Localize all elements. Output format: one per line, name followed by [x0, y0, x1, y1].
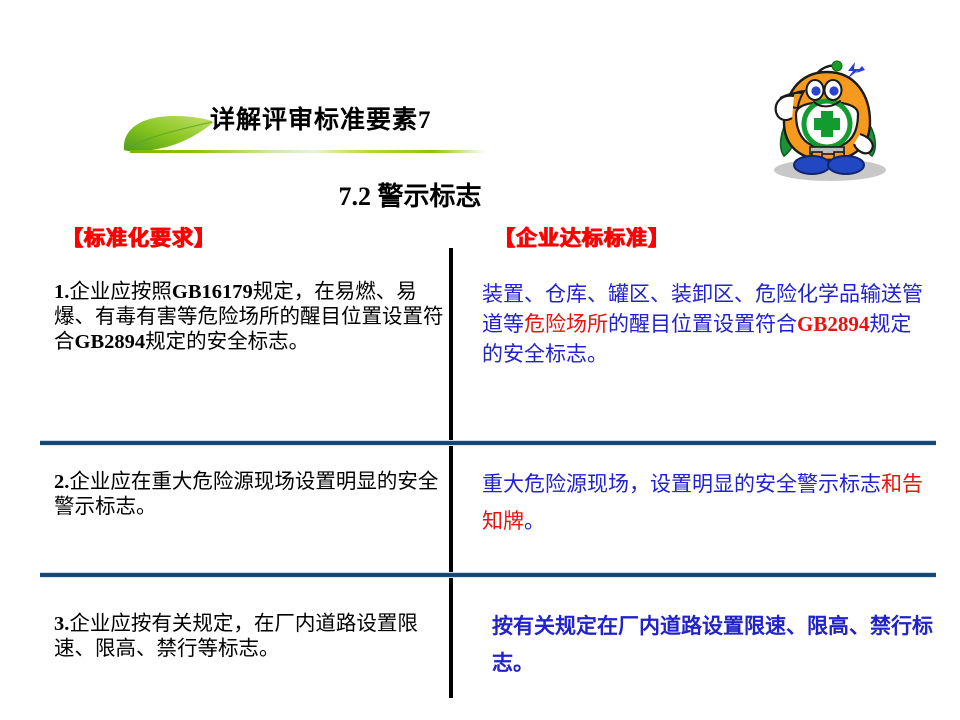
- safety-helmet-mascot-icon: [752, 48, 932, 188]
- row-1-left-seg-c: 规定的安全标志。: [145, 331, 309, 353]
- page-title: 详解评审标准要素7: [210, 100, 432, 136]
- row-2-right-seg-a: 重大危险源现场，设置明显的安全警示标志: [482, 472, 881, 496]
- row-2-left-seg-a: 企业应在重大危险源现场设置明显的安全警示标志。: [54, 471, 438, 518]
- table-row-1-right-cell: 装置、仓库、罐区、装卸区、危险化学品输送管道等危险场所的醒目位置设置符合GB28…: [482, 280, 930, 369]
- row-1-right-highlight-b: GB2894: [797, 312, 869, 336]
- column-header-enterprise-standard: 【企业达标标准】: [494, 222, 670, 252]
- row-1-right-seg-b: 的醒目位置设置符合: [608, 312, 797, 336]
- table-row-2-left-cell: 2.企业应在重大危险源现场设置明显的安全警示标志。: [54, 470, 444, 520]
- row-2-number: 2.: [54, 471, 69, 493]
- row-divider-1: [40, 440, 936, 446]
- row-divider-2: [40, 572, 936, 578]
- slide-title-block: 详解评审标准要素7: [118, 100, 738, 164]
- row-1-left-code-a: GB16179: [172, 281, 253, 303]
- section-subtitle: 7.2 警示标志: [0, 176, 820, 213]
- row-2-right-seg-b: 。: [524, 509, 545, 533]
- column-header-standard-requirement: 【标准化要求】: [62, 222, 216, 252]
- table-row-1-left-cell: 1.企业应按照GB16179规定，在易燃、易爆、有毒有害等危险场所的醒目位置设置…: [54, 280, 444, 355]
- row-3-right-seg-a: 按有关规定在厂内道路设置限速、限高、禁行标志。: [492, 614, 933, 675]
- row-3-left-seg-a: 企业应按有关规定，在厂内道路设置限速、限高、禁行等标志。: [54, 613, 418, 660]
- table-row-2-right-cell: 重大危险源现场，设置明显的安全警示标志和告知牌。: [482, 466, 930, 541]
- row-1-right-highlight-a: 危险场所: [524, 312, 608, 336]
- row-1-left-code-b: GB2894: [75, 331, 146, 353]
- slide-canvas: 详解评审标准要素7 7.2 警示标志 【标准化要求】 【企业达标标准】 1.企业…: [0, 0, 960, 720]
- row-3-number: 3.: [54, 613, 69, 635]
- table-row-3-left-cell: 3.企业应按有关规定，在厂内道路设置限速、限高、禁行等标志。: [54, 612, 444, 662]
- table-row-3-right-cell: 按有关规定在厂内道路设置限速、限高、禁行标志。: [492, 608, 940, 683]
- row-1-left-seg-a: 企业应按照: [69, 281, 172, 303]
- vertical-column-divider: [449, 248, 453, 698]
- title-underline: [130, 150, 486, 153]
- row-1-number: 1.: [54, 281, 69, 303]
